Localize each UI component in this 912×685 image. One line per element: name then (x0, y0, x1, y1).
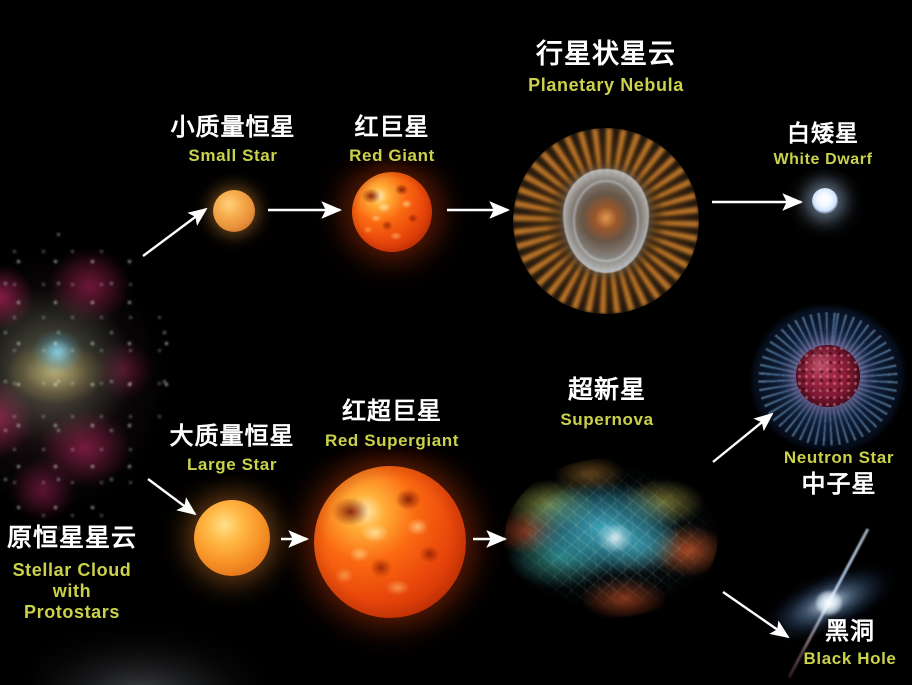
label-stellar-cloud-en-line1: Stellar Cloud (0, 560, 172, 581)
arrow-cloud-to-small-star (143, 209, 206, 256)
label-white-dwarf-cn: 白矮星 (773, 120, 872, 147)
label-black-hole: 黑洞 Black Hole (804, 618, 897, 669)
label-stellar-cloud-cn: 原恒星星云 (0, 524, 172, 554)
label-small-star: 小质量恒星 Small Star (171, 114, 296, 166)
label-stellar-cloud-en-line3: Protostars (0, 602, 172, 623)
label-large-star: 大质量恒星 Large Star (170, 423, 295, 475)
label-stellar-cloud: 原恒星星云 Stellar Cloud with Protostars (0, 524, 172, 623)
label-red-giant-en: Red Giant (349, 146, 435, 166)
label-red-supergiant: 红超巨星 Red Supergiant (325, 398, 459, 451)
stellar-evolution-diagram: 行星状星云 Planetary Nebula 小质量恒星 Small Star … (0, 0, 912, 685)
label-neutron-star: Neutron Star 中子星 (784, 448, 894, 499)
label-white-dwarf-en: White Dwarf (773, 151, 872, 170)
label-white-dwarf: 白矮星 White Dwarf (773, 120, 872, 170)
label-planetary-nebula-cn: 行星状星云 (528, 39, 684, 71)
label-small-star-en: Small Star (171, 146, 296, 166)
arrow-cloud-to-large-star (148, 479, 195, 514)
label-supernova: 超新星 Supernova (560, 376, 653, 430)
label-red-giant-cn: 红巨星 (349, 114, 435, 142)
label-planetary-nebula: 行星状星云 Planetary Nebula (528, 39, 684, 96)
label-stellar-cloud-en-line2: with (0, 581, 172, 602)
label-large-star-cn: 大质量恒星 (170, 423, 295, 451)
label-neutron-star-en: Neutron Star (784, 448, 894, 468)
label-red-giant: 红巨星 Red Giant (349, 114, 435, 166)
label-black-hole-cn: 黑洞 (804, 618, 897, 646)
label-supernova-en: Supernova (560, 410, 653, 430)
label-red-supergiant-en: Red Supergiant (325, 431, 459, 451)
label-supernova-cn: 超新星 (560, 376, 653, 406)
label-large-star-en: Large Star (170, 455, 295, 475)
label-red-supergiant-cn: 红超巨星 (325, 398, 459, 426)
label-planetary-nebula-en: Planetary Nebula (528, 75, 684, 96)
arrow-supernova-to-black-hole (723, 592, 788, 637)
label-neutron-star-cn: 中子星 (784, 471, 894, 499)
label-black-hole-en: Black Hole (804, 649, 897, 669)
arrow-supernova-to-neutron-star (713, 414, 772, 462)
label-small-star-cn: 小质量恒星 (171, 114, 296, 142)
